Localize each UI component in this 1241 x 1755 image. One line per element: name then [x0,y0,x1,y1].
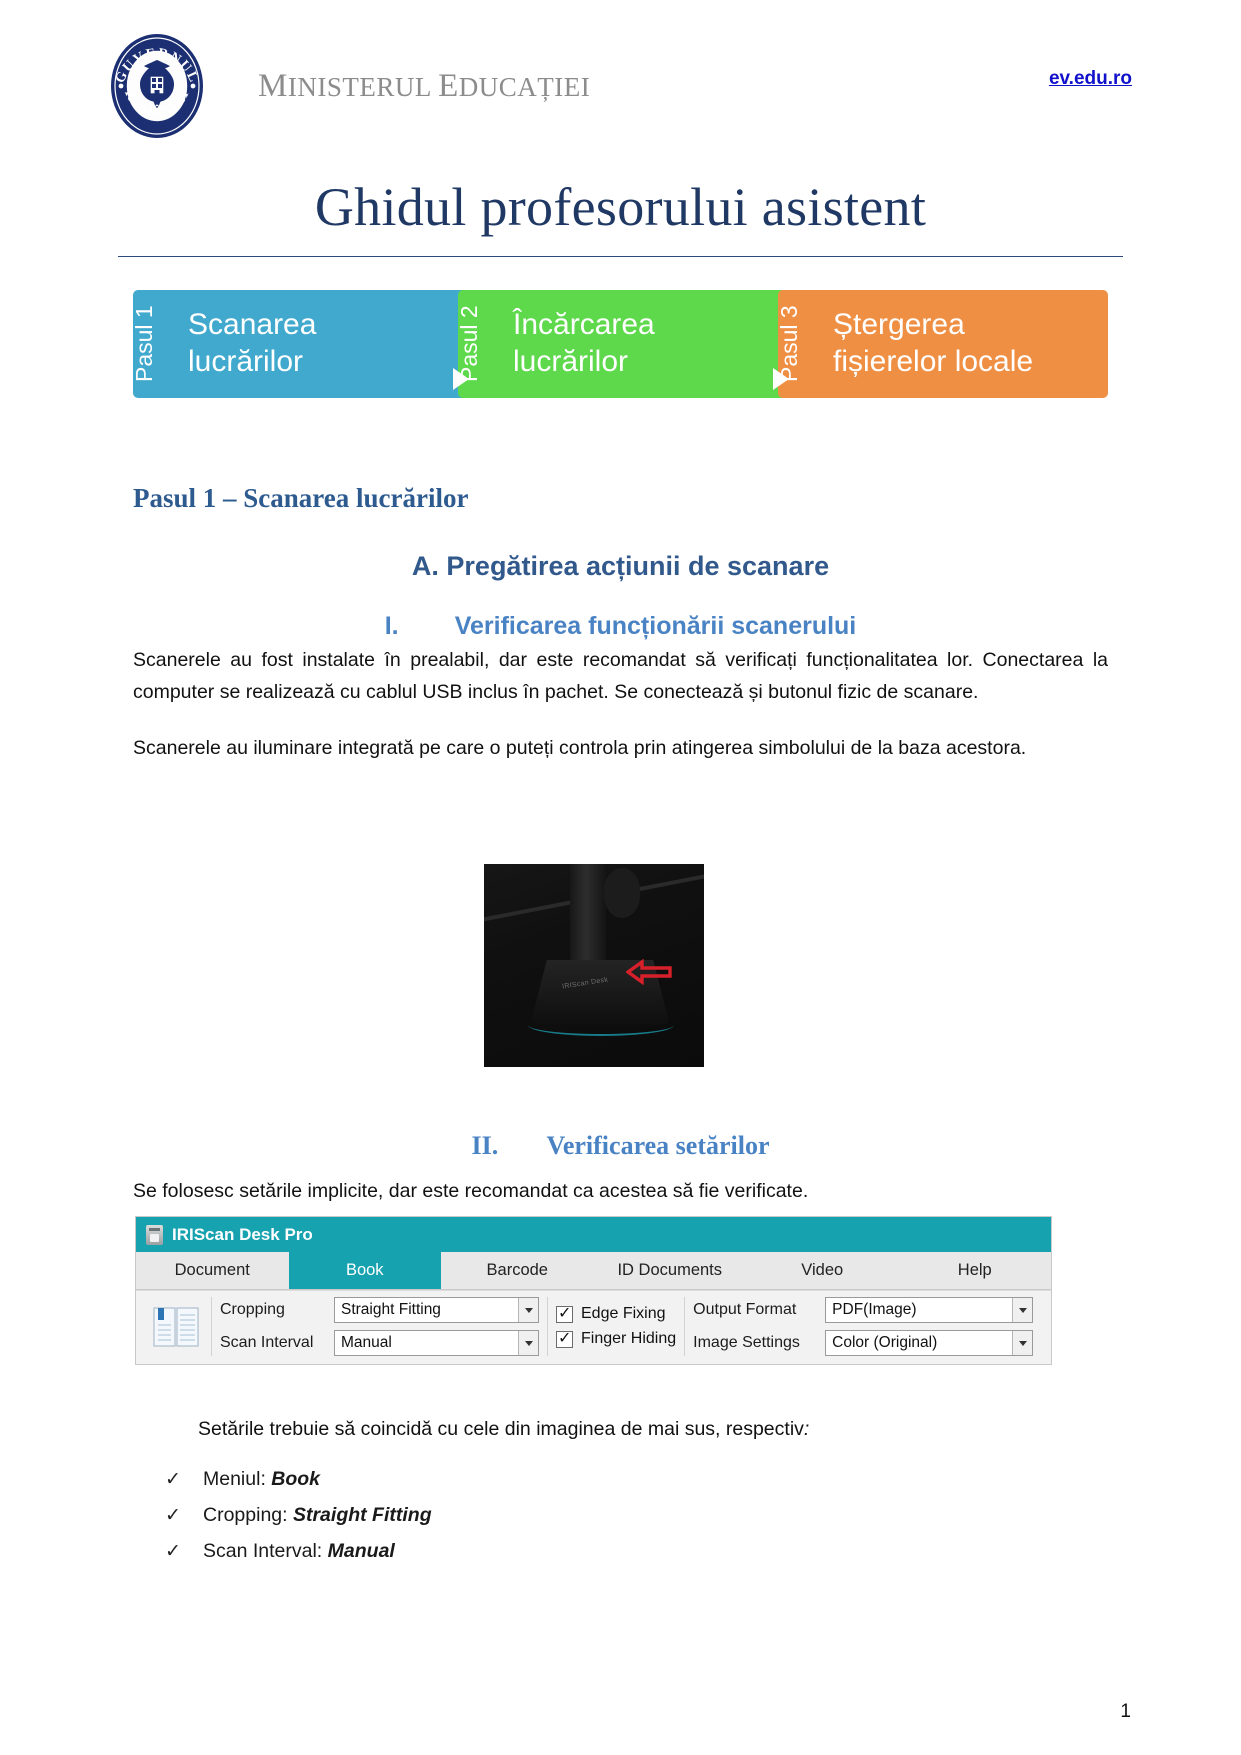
step-2-label: Încărcarea lucrărilor [493,290,655,398]
step-section-heading: Pasul 1 – Scanarea lucrărilor [133,483,468,514]
iriscan-app-screenshot: IRIScan Desk Pro Document Book Barcode I… [135,1216,1052,1365]
checklist-item: ✓ Cropping: Straight Fitting [165,1504,1065,1527]
edge-fixing-label: Edge Fixing [581,1305,666,1323]
section-a-heading: A. Pregătirea acțiunii de scanare [0,551,1241,582]
title-divider [118,256,1123,257]
page-title: Ghidul profesorului asistent [0,176,1241,238]
scanner-led-glow [528,1014,674,1036]
app-settings-toolbar: Cropping Straight Fitting Scan Interval … [136,1290,1051,1364]
settings-note-suffix: : [804,1418,809,1440]
step-2-label-line1: Încărcarea [513,308,655,341]
app-title-text: IRIScan Desk Pro [172,1225,313,1245]
step-3-label-line1: Ștergerea [833,308,965,341]
cropping-value: Straight Fitting [341,1301,441,1319]
app-tab-bar: Document Book Barcode ID Documents Video… [136,1252,1051,1290]
step-3-label: Ștergerea fișierelor locale [813,290,1033,398]
book-mode-icon [140,1297,212,1356]
chevron-down-icon[interactable] [1012,1331,1032,1355]
tab-id-documents[interactable]: ID Documents [594,1252,747,1289]
checklist-item-text: Scan Interval: Manual [203,1540,395,1563]
cropping-field-row: Cropping Straight Fitting [220,1297,539,1323]
step-1-label-line2: lucrărilor [188,345,303,378]
image-settings-field-row: Image Settings Color (Original) [693,1330,1033,1356]
app-title-bar: IRIScan Desk Pro [136,1217,1051,1252]
output-format-label: Output Format [693,1301,819,1319]
subsection-i-number: I. [385,612,455,641]
settings-note-text: Setările trebuie să coincidă cu cele din… [198,1418,804,1440]
checklist-item-text: Cropping: Straight Fitting [203,1504,432,1527]
settings-checklist: ✓ Meniul: Book ✓ Cropping: Straight Fitt… [165,1468,1065,1576]
step-3-label-line2: fișierelor locale [833,345,1033,378]
toggles-group: Edge Fixing Finger Hiding [548,1297,685,1356]
tab-document[interactable]: Document [136,1252,289,1289]
romanian-government-seal-icon: GUVERNUL ROMÂNIEI [108,32,206,140]
tab-video[interactable]: Video [746,1252,899,1289]
edge-fixing-checkbox-row[interactable]: Edge Fixing [556,1305,676,1323]
edge-fixing-checkbox[interactable] [556,1306,573,1323]
checklist-item: ✓ Meniul: Book [165,1468,1065,1491]
step-2-label-line2: lucrărilor [513,345,628,378]
checklist-item-value: Book [271,1468,320,1490]
cropping-settings-group: Cropping Straight Fitting Scan Interval … [212,1297,548,1356]
output-settings-group: Output Format PDF(Image) Image Settings … [685,1297,1041,1356]
step-card-3: Pasul 3 Ștergerea fișierelor locale [778,290,1108,398]
image-settings-label: Image Settings [693,1334,819,1352]
paragraph-2: Scanerele au iluminare integrată pe care… [133,733,1108,765]
step-2-arrow-icon [773,368,789,390]
chevron-down-icon[interactable] [518,1331,538,1355]
checklist-item-label: Meniul: [203,1468,271,1490]
page-header: GUVERNUL ROMÂNIEI MINISTERUL EDUCAȚIEI e… [0,0,1241,150]
tab-help[interactable]: Help [899,1252,1052,1289]
scanner-post [570,864,606,974]
subsection-i-text: Verificarea funcționării scanerului [455,612,857,640]
check-icon: ✓ [165,1504,203,1527]
step-card-2: Pasul 2 Încărcarea lucrărilor [458,290,788,398]
checklist-item-text: Meniul: Book [203,1468,320,1491]
tab-book[interactable]: Book [289,1252,442,1289]
scan-interval-label: Scan Interval [220,1334,328,1352]
document-page: GUVERNUL ROMÂNIEI MINISTERUL EDUCAȚIEI e… [0,0,1241,1755]
ministry-logo-group: GUVERNUL ROMÂNIEI MINISTERUL EDUCAȚIEI [108,32,590,140]
step-1-label-line1: Scanarea [188,308,316,341]
scan-interval-value: Manual [341,1334,392,1352]
scanner-camera-head [604,868,640,918]
checklist-item: ✓ Scan Interval: Manual [165,1540,1065,1563]
chevron-down-icon[interactable] [1012,1298,1032,1322]
checklist-item-label: Scan Interval: [203,1540,328,1562]
image-settings-select[interactable]: Color (Original) [825,1330,1033,1356]
subsection-ii-text: Verificarea setărilor [546,1131,769,1160]
scanner-photo: IRIScan Desk [484,864,704,1067]
tab-barcode[interactable]: Barcode [441,1252,594,1289]
image-settings-value: Color (Original) [832,1334,937,1352]
checklist-item-value: Manual [328,1540,395,1562]
paragraph-3: Se folosesc setările implicite, dar este… [133,1176,1108,1208]
output-format-select[interactable]: PDF(Image) [825,1297,1033,1323]
app-scanner-icon [146,1225,163,1245]
subsection-i-heading: I.Verificarea funcționării scanerului [0,612,1241,641]
output-format-value: PDF(Image) [832,1301,916,1319]
subsection-ii-number: II. [471,1131,546,1161]
checklist-item-value: Straight Fitting [293,1504,432,1526]
chevron-down-icon[interactable] [518,1298,538,1322]
red-arrow-annotation-icon [626,959,672,985]
finger-hiding-label: Finger Hiding [581,1330,676,1348]
cropping-label: Cropping [220,1301,328,1319]
ministry-name: MINISTERUL EDUCAȚIEI [258,68,590,105]
site-link[interactable]: ev.edu.ro [1049,68,1132,90]
scan-interval-select[interactable]: Manual [334,1330,539,1356]
cropping-select[interactable]: Straight Fitting [334,1297,539,1323]
output-format-field-row: Output Format PDF(Image) [693,1297,1033,1323]
scan-interval-field-row: Scan Interval Manual [220,1330,539,1356]
finger-hiding-checkbox-row[interactable]: Finger Hiding [556,1330,676,1348]
step-1-arrow-icon [453,368,469,390]
step-1-number: Pasul 1 [133,290,168,398]
finger-hiding-checkbox[interactable] [556,1331,573,1348]
page-number: 1 [1120,1701,1131,1723]
check-icon: ✓ [165,1540,203,1563]
check-icon: ✓ [165,1468,203,1491]
steps-banner: Pasul 1 Scanarea lucrărilor Pasul 2 Încă… [133,290,1108,398]
paragraph-1: Scanerele au fost instalate în prealabil… [133,645,1108,708]
step-card-1: Pasul 1 Scanarea lucrărilor [133,290,468,398]
subsection-ii-heading: II.Verificarea setărilor [0,1131,1241,1161]
step-1-label: Scanarea lucrărilor [168,290,316,398]
settings-note: Setările trebuie să coincidă cu cele din… [198,1418,809,1441]
checklist-item-label: Cropping: [203,1504,293,1526]
